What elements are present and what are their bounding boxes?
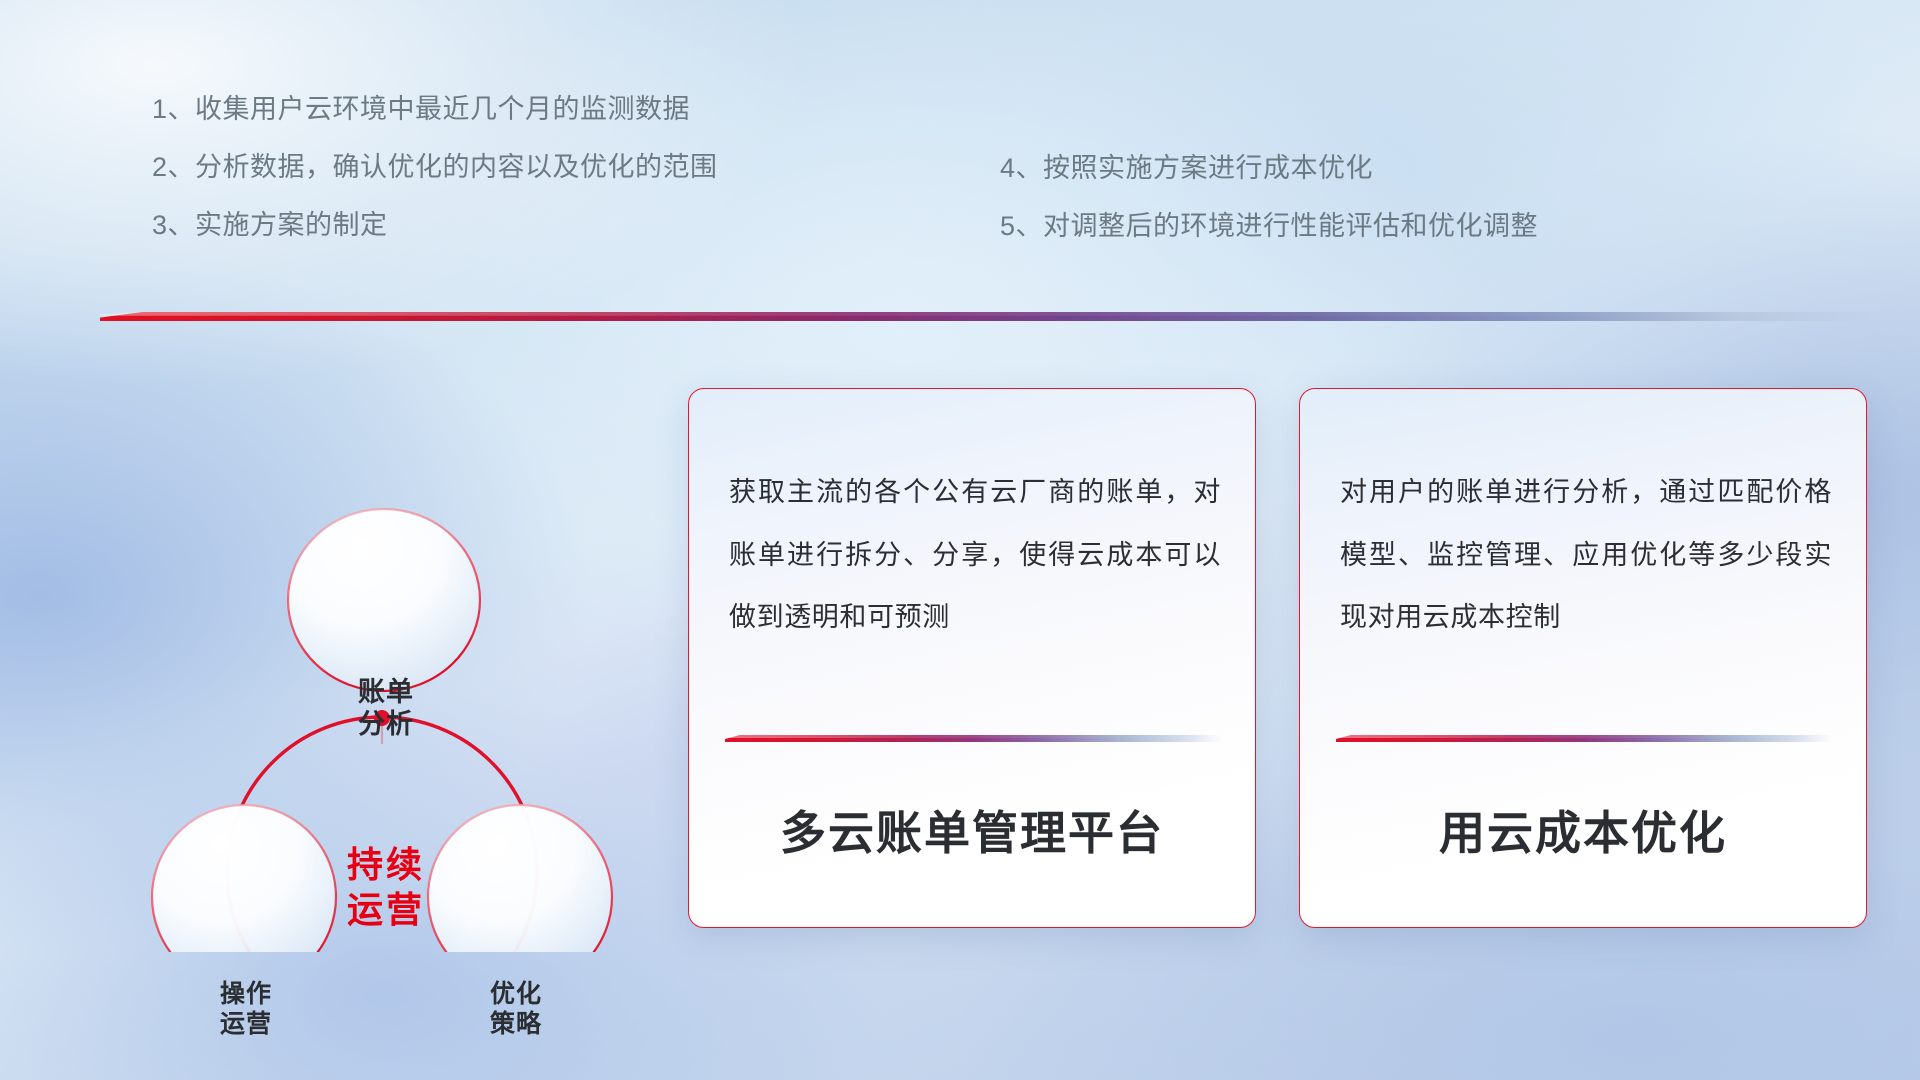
bubble-billing-analysis: [288, 509, 480, 691]
divider-gloss: [100, 312, 1878, 316]
continuous-operations-diagram: 账单 分析 操作 运营 优化 策略 持续 运营: [96, 352, 656, 952]
venn-label-optimization-strategy: 优化 策略: [436, 980, 596, 1039]
card-divider-gloss: [1336, 735, 1832, 738]
step-item-1: 1、收集用户云环境中最近几个月的监测数据: [152, 96, 718, 123]
card-body-text: 获取主流的各个公有云厂商的账单，对账单进行拆分、分享，使得云成本可以做到透明和可…: [729, 461, 1221, 649]
venn-label-operations: 操作 运营: [166, 980, 326, 1039]
venn-label-billing-analysis: 账单 分析: [301, 677, 471, 741]
card-divider-gloss: [725, 735, 1221, 738]
steps-right-column: 4、按照实施方案进行成本优化 5、对调整后的环境进行性能评估和优化调整: [1000, 155, 1538, 271]
card-cloud-cost-optimization[interactable]: 对用户的账单进行分析，通过匹配价格模型、监控管理、应用优化等多少段实现对用云成本…: [1299, 388, 1867, 928]
card-title-text: 用云成本优化: [1300, 797, 1866, 863]
card-body-text: 对用户的账单进行分析，通过匹配价格模型、监控管理、应用优化等多少段实现对用云成本…: [1340, 461, 1832, 649]
venn-label-continuous-operations: 持续 运营: [276, 842, 496, 933]
steps-left-column: 1、收集用户云环境中最近几个月的监测数据 2、分析数据，确认优化的内容以及优化的…: [152, 96, 718, 270]
card-divider: [725, 735, 1221, 742]
card-title-text: 多云账单管理平台: [689, 797, 1255, 863]
step-item-4: 4、按照实施方案进行成本优化: [1000, 155, 1538, 182]
card-divider: [1336, 735, 1832, 742]
step-item-3: 3、实施方案的制定: [152, 212, 718, 239]
step-item-5: 5、对调整后的环境进行性能评估和优化调整: [1000, 213, 1538, 240]
card-multi-cloud-billing-platform[interactable]: 获取主流的各个公有云厂商的账单，对账单进行拆分、分享，使得云成本可以做到透明和可…: [688, 388, 1256, 928]
step-item-2: 2、分析数据，确认优化的内容以及优化的范围: [152, 154, 718, 181]
section-divider: [100, 312, 1878, 321]
